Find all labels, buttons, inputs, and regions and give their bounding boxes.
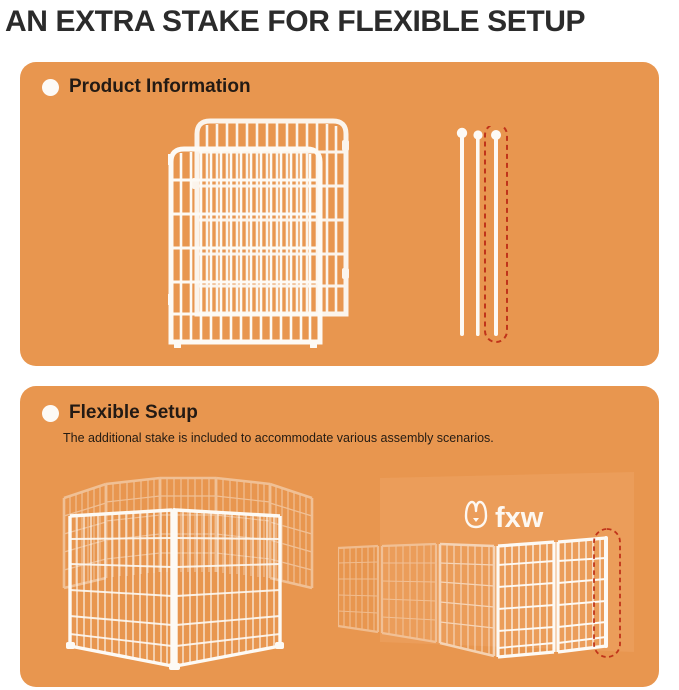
- end-post: [604, 536, 608, 648]
- section-title: Product Information: [69, 76, 251, 98]
- section-subtitle: The additional stake is included to acco…: [63, 431, 494, 445]
- octagon-playpen-illustration: [48, 468, 348, 673]
- bullet-icon: [42, 79, 59, 96]
- flexible-setup-heading: Flexible Setup: [42, 402, 198, 424]
- stake-1: [457, 128, 467, 336]
- wall-mounted-playpen-illustration: fxw: [338, 466, 648, 681]
- ground-stakes-illustration: [452, 126, 522, 346]
- stake-2: [473, 130, 482, 336]
- bullet-icon: [42, 405, 59, 422]
- back-wall: [380, 472, 634, 652]
- infographic-page: AN EXTRA STAKE FOR FLEXIBLE SETUP Produc…: [0, 0, 679, 690]
- stake-3-highlighted: [491, 130, 501, 336]
- logo-wordmark: fxw: [495, 502, 544, 534]
- page-title: AN EXTRA STAKE FOR FLEXIBLE SETUP: [5, 2, 677, 42]
- section-title: Flexible Setup: [69, 402, 198, 424]
- product-information-heading: Product Information: [42, 76, 251, 98]
- fence-panels-illustration: [168, 118, 368, 348]
